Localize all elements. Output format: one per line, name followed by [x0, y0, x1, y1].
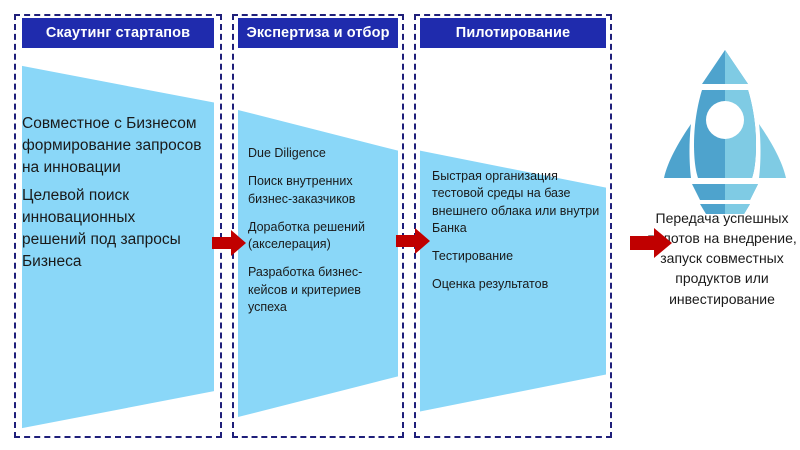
stage-header-piloting[interactable]: Пилотирование — [420, 18, 606, 48]
stage-item: Целевой поиск инновационных решений под … — [22, 185, 202, 273]
stage-content-expertise: Due Diligence Поиск внутренних бизнес-за… — [248, 145, 400, 316]
stage-item: Оценка результатов — [432, 276, 604, 293]
arrow-right-icon — [396, 228, 430, 254]
stage-item: Разработка бизнес-кейсов и критериев усп… — [248, 264, 400, 316]
rocket-icon — [658, 42, 792, 214]
stage-header-expertise[interactable]: Экспертиза и отбор — [238, 18, 398, 48]
process-diagram: Скаутинг стартапов Совместное с Бизнесом… — [0, 0, 800, 450]
arrow-right-icon — [630, 228, 672, 258]
stage-header-scouting[interactable]: Скаутинг стартапов — [22, 18, 214, 48]
stage-item: Due Diligence — [248, 145, 400, 162]
stage-item: Тестирование — [432, 248, 604, 265]
stage-item: Совместное с Бизнесом формирование запро… — [22, 113, 202, 179]
stage-item: Доработка решений (акселерация) — [248, 219, 400, 254]
arrow-right-icon — [212, 230, 246, 256]
outcome-text: Передача успешных пилотов на внедрение, … — [646, 208, 798, 309]
stage-content-piloting: Быстрая организация тестовой среды на ба… — [432, 168, 604, 294]
stage-item: Поиск внутренних бизнес-заказчиков — [248, 173, 400, 208]
stage-content-scouting: Совместное с Бизнесом формирование запро… — [22, 113, 202, 279]
stage-item: Быстрая организация тестовой среды на ба… — [432, 168, 604, 237]
